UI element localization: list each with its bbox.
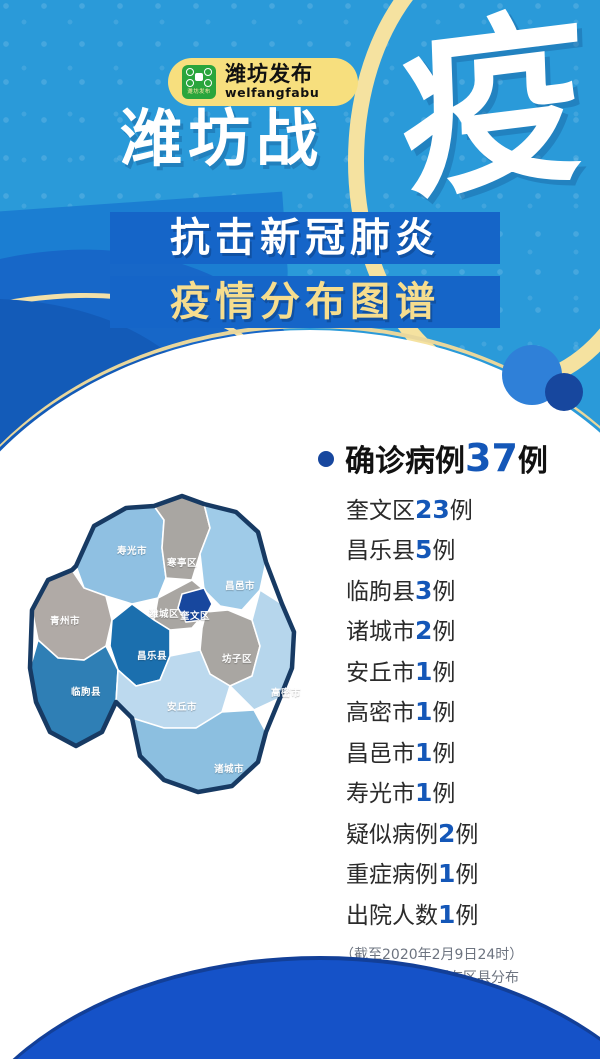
stat-number: 1 bbox=[438, 900, 455, 929]
map-label-hanting: 寒亭区 bbox=[167, 555, 197, 569]
stat-unit: 例 bbox=[432, 741, 455, 767]
map-label-changyi: 昌邑市 bbox=[225, 578, 255, 592]
stat-label: 临朐县 bbox=[346, 579, 415, 605]
stat-label: 昌邑市 bbox=[346, 741, 415, 767]
confirmed-cases-header-text: 确诊病例37例 bbox=[345, 438, 548, 480]
list-item: 昌乐县5例 bbox=[346, 530, 588, 571]
confirmed-cases-label: 确诊病例 bbox=[345, 444, 465, 479]
stat-label: 寿光市 bbox=[346, 781, 415, 807]
stat-unit: 例 bbox=[455, 903, 478, 929]
stat-label: 昌乐县 bbox=[346, 538, 415, 564]
list-item: 出院人数1例 bbox=[346, 895, 588, 936]
map-label-fangzi: 坊子区 bbox=[222, 651, 252, 665]
list-item: 诸城市2例 bbox=[346, 611, 588, 652]
statistics-list: 奎文区23例 昌乐县5例 临朐县3例 诸城市2例 安丘市1例 高密市1例 昌邑市… bbox=[318, 490, 588, 936]
stat-number: 1 bbox=[415, 697, 432, 726]
map-svg bbox=[14, 470, 310, 810]
list-item: 临朐县3例 bbox=[346, 571, 588, 612]
map-label-anqiu: 安丘市 bbox=[167, 699, 197, 713]
stat-unit: 例 bbox=[450, 498, 473, 524]
map-regions bbox=[30, 496, 294, 792]
map-label-gaomi: 高密市 bbox=[271, 685, 301, 699]
confirmed-cases-number: 37 bbox=[465, 436, 518, 480]
weifangfabu-logo-icon: 潍坊发布 bbox=[182, 65, 216, 99]
stat-unit: 例 bbox=[432, 579, 455, 605]
stat-unit: 例 bbox=[455, 822, 478, 848]
logo-name-cn: 潍坊发布 bbox=[225, 64, 319, 85]
map-region-changyi bbox=[200, 504, 266, 610]
stat-number: 1 bbox=[415, 778, 432, 807]
stat-label: 奎文区 bbox=[346, 498, 415, 524]
list-item: 高密市1例 bbox=[346, 692, 588, 733]
confirmed-cases-header: 确诊病例37例 bbox=[318, 438, 588, 480]
stat-label: 诸城市 bbox=[346, 619, 415, 645]
stat-unit: 例 bbox=[432, 538, 455, 564]
stat-number: 2 bbox=[415, 616, 432, 645]
map-label-qingzhou: 青州市 bbox=[50, 613, 80, 627]
stat-number: 1 bbox=[438, 859, 455, 888]
list-item: 安丘市1例 bbox=[346, 652, 588, 693]
bullet-dot-icon bbox=[318, 451, 334, 467]
map-label-changle: 昌乐县 bbox=[137, 648, 167, 662]
stat-label: 重症病例 bbox=[346, 862, 438, 888]
map-label-linqu: 临朐县 bbox=[71, 684, 101, 698]
poster-headline: 潍坊战 bbox=[120, 108, 324, 170]
stat-number: 1 bbox=[415, 657, 432, 686]
list-item: 奎文区23例 bbox=[346, 490, 588, 531]
stat-number: 2 bbox=[438, 819, 455, 848]
stat-unit: 例 bbox=[455, 862, 478, 888]
publisher-logo-badge: 潍坊发布 潍坊发布 welfangfabu bbox=[168, 58, 358, 106]
subtitle-band-primary: 抗击新冠肺炎 bbox=[110, 212, 500, 264]
statistics-panel: 确诊病例37例 奎文区23例 昌乐县5例 临朐县3例 诸城市2例 安丘市1例 高… bbox=[318, 438, 588, 989]
infographic-poster: 疫 潍坊发布 潍坊发布 welfangfabu 潍坊战 抗击新冠肺炎 疫情分布图… bbox=[0, 0, 600, 1059]
stat-label: 出院人数 bbox=[346, 903, 438, 929]
stat-unit: 例 bbox=[432, 781, 455, 807]
stat-number: 1 bbox=[415, 738, 432, 767]
stat-unit: 例 bbox=[432, 619, 455, 645]
stat-label: 疑似病例 bbox=[346, 822, 438, 848]
logo-dots bbox=[186, 68, 212, 87]
list-item: 重症病例1例 bbox=[346, 854, 588, 895]
list-item: 昌邑市1例 bbox=[346, 733, 588, 774]
subtitle-band-secondary: 疫情分布图谱 bbox=[110, 276, 500, 328]
stat-label: 安丘市 bbox=[346, 660, 415, 686]
stat-number: 23 bbox=[415, 495, 450, 524]
map-label-kuiwen: 奎文区 bbox=[180, 608, 210, 622]
stat-number: 3 bbox=[415, 576, 432, 605]
subtitle-band-secondary-text: 疫情分布图谱 bbox=[170, 282, 440, 322]
map-label-shouguang: 寿光市 bbox=[117, 543, 147, 557]
logo-mark-caption: 潍坊发布 bbox=[184, 88, 214, 97]
decorative-circle-small bbox=[545, 373, 583, 411]
logo-text-group: 潍坊发布 welfangfabu bbox=[225, 64, 319, 100]
map-label-zhucheng: 诸城市 bbox=[214, 761, 244, 775]
stat-number: 5 bbox=[415, 535, 432, 564]
confirmed-cases-unit: 例 bbox=[518, 444, 548, 479]
list-item: 疑似病例2例 bbox=[346, 814, 588, 855]
stat-unit: 例 bbox=[432, 700, 455, 726]
weifang-district-map: 寿光市 寒亭区 昌邑市 青州市 潍城区 奎文区 昌乐县 坊子区 临朐县 安丘市 … bbox=[14, 470, 310, 810]
logo-name-en: welfangfabu bbox=[225, 87, 319, 100]
stat-unit: 例 bbox=[432, 660, 455, 686]
brush-character-yi: 疫 bbox=[397, 2, 587, 210]
stat-label: 高密市 bbox=[346, 700, 415, 726]
map-label-weicheng: 潍城区 bbox=[149, 606, 179, 620]
list-item: 寿光市1例 bbox=[346, 773, 588, 814]
subtitle-band-primary-text: 抗击新冠肺炎 bbox=[170, 218, 440, 258]
